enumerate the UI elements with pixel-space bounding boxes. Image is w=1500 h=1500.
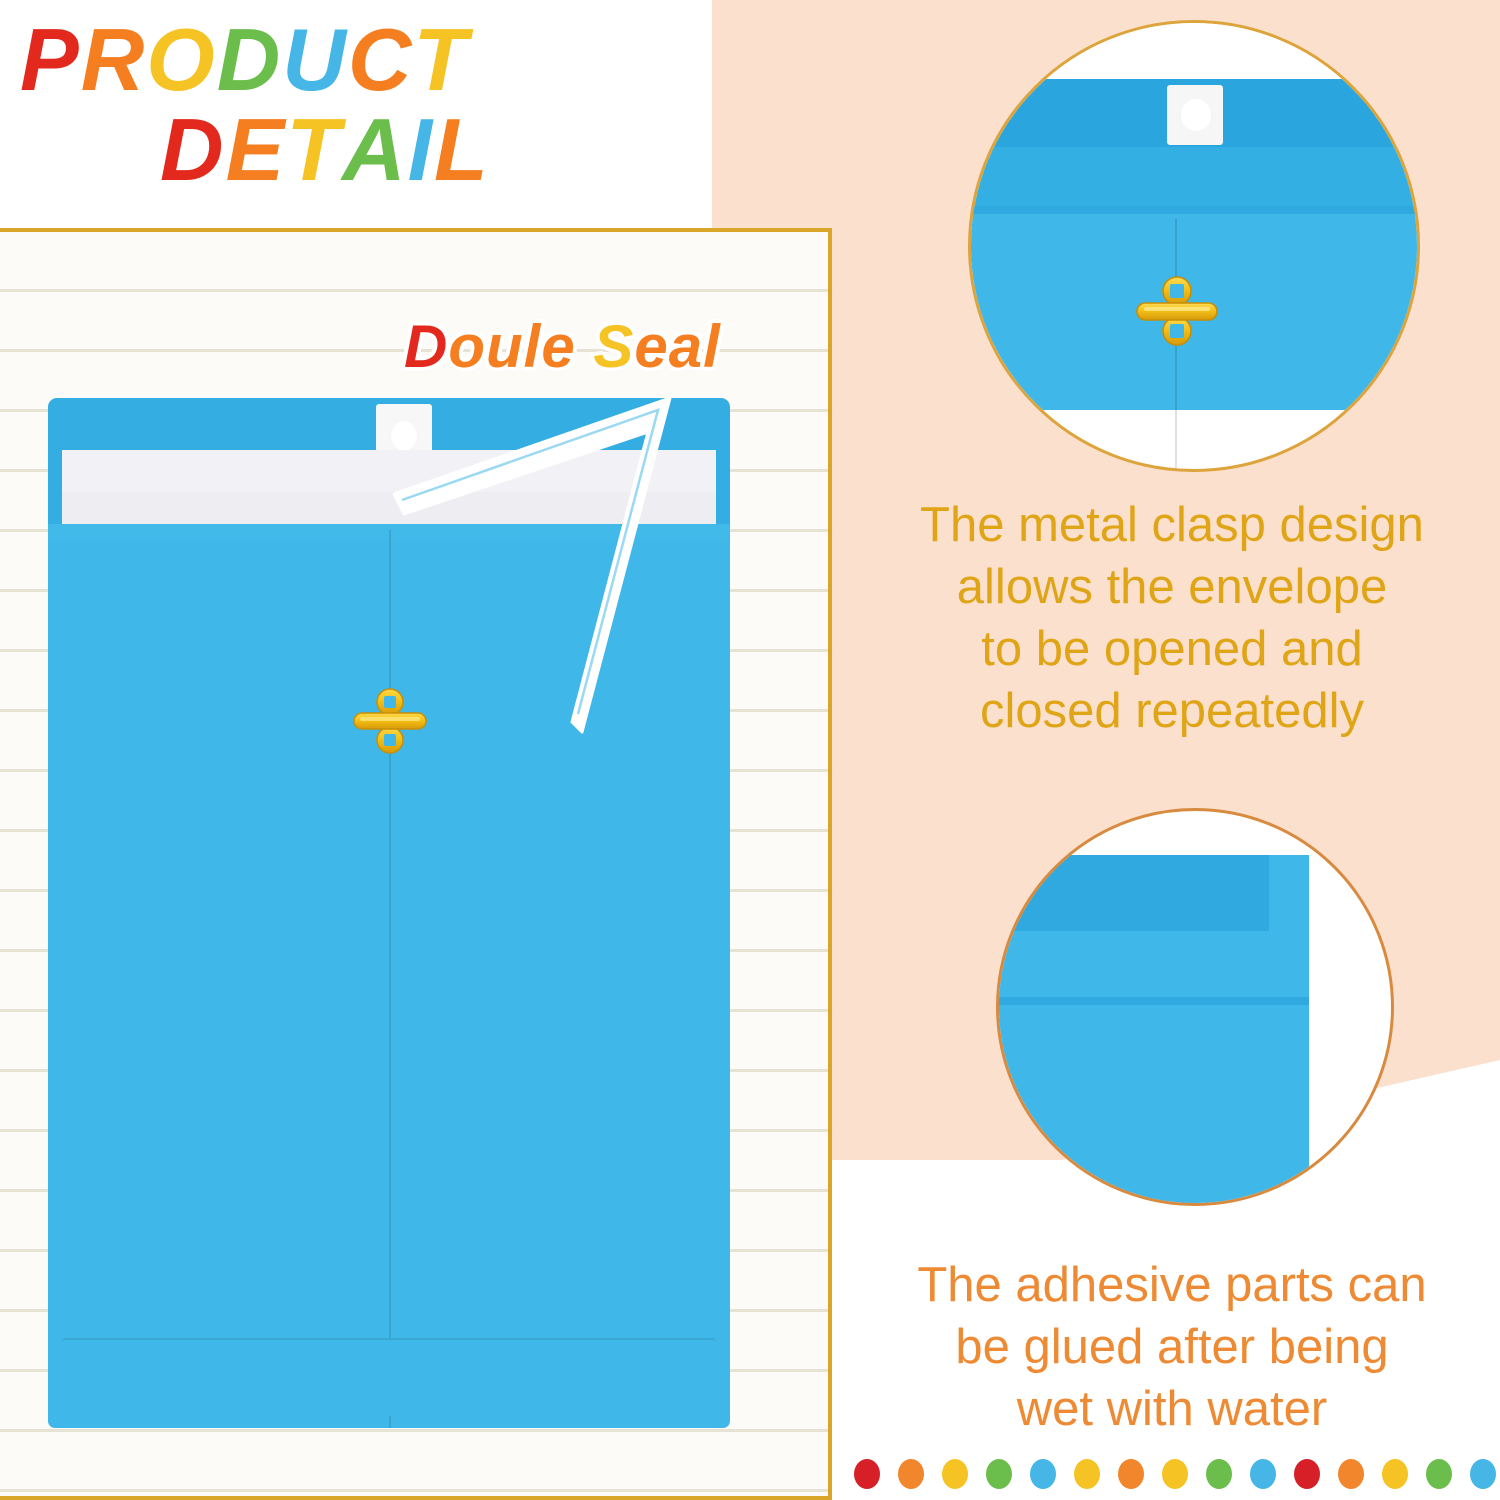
seal-label-segment: D [404,313,448,380]
adhesive-detail-shadow-band [996,855,1269,931]
infographic-canvas: PRODUCT DETAIL [0,0,1500,1500]
decorative-dot [1162,1459,1188,1489]
title-line-detail: DETAIL [160,104,490,196]
envelope-bottom-flap [62,1338,716,1416]
title-letter: P [20,14,81,106]
description-line: The adhesive parts can [848,1254,1496,1316]
clasp-detail-tab-hole [1181,99,1211,131]
seal-label-segment: eal [634,313,720,380]
clasp-description-text: The metal clasp designallows the envelop… [848,494,1496,742]
title-letter: E [226,104,287,196]
decorative-dot [854,1459,880,1489]
decorative-dot [1250,1459,1276,1489]
clasp-detail-mid-band [971,147,1417,214]
description-line: allows the envelope [848,556,1496,618]
callout-arrow-icon [386,384,686,754]
title-letter: D [217,14,283,106]
decorative-dot [1426,1459,1452,1489]
decorative-dot [898,1459,924,1489]
decorative-dot [1118,1459,1144,1489]
decorative-dot [986,1459,1012,1489]
clasp-detail-label-tab [1167,85,1223,145]
decorative-dot [1338,1459,1364,1489]
title-letter: U [282,14,348,106]
adhesive-detail-fold-line [996,997,1309,1005]
decorative-dot [1470,1459,1496,1489]
title-letter: I [408,104,434,196]
title-letter: T [286,104,342,196]
title-line-product: PRODUCT [20,14,469,106]
clasp-detail-photo [968,20,1420,472]
adhesive-detail-photo [996,808,1394,1206]
description-line: wet with water [848,1378,1496,1440]
doule-seal-label: Doule Seal [404,312,721,381]
description-line: closed repeatedly [848,680,1496,742]
seal-label-segment: oule [448,313,593,380]
title-letter: D [160,104,226,196]
description-line: The metal clasp design [848,494,1496,556]
clasp-detail-background [971,23,1417,79]
description-line: to be opened and [848,618,1496,680]
title-letter: L [434,104,490,196]
clasp-detail-metal-clasp-icon [1133,273,1221,349]
description-line: be glued after being [848,1316,1496,1378]
seal-label-segment: S [593,313,634,380]
decorative-dot [1030,1459,1056,1489]
title-letter: T [413,14,469,106]
decorative-dot [1382,1459,1408,1489]
title-letter: C [348,14,414,106]
decorative-dot [942,1459,968,1489]
title-letter: O [146,14,216,106]
decorative-dot [1074,1459,1100,1489]
page-title: PRODUCT DETAIL [0,0,712,222]
decorative-dot [1294,1459,1320,1489]
title-letter: A [342,104,408,196]
adhesive-description-text: The adhesive parts canbe glued after bei… [848,1254,1496,1440]
decorative-dot [1206,1459,1232,1489]
title-letter: R [81,14,147,106]
decorative-dot-row [854,1458,1494,1490]
